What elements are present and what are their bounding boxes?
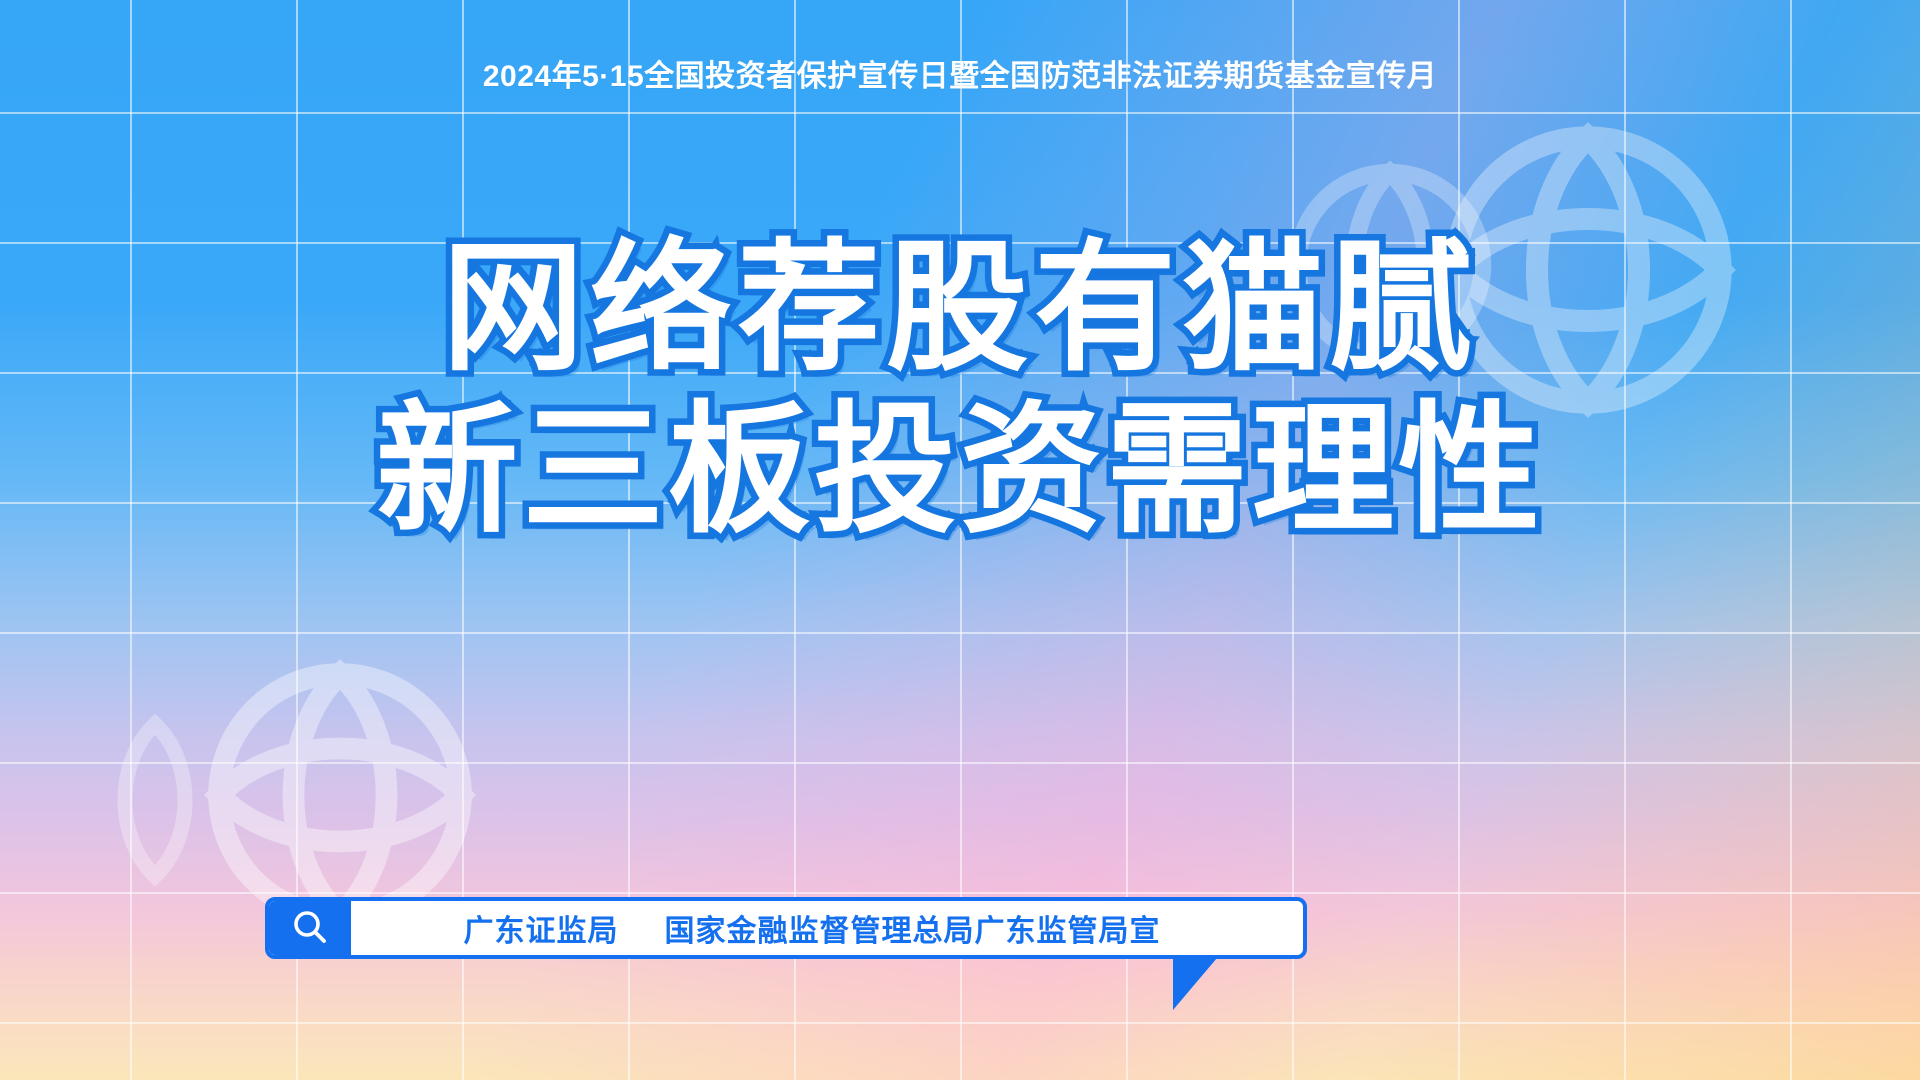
main-title-line-1: 网络荐股有猫腻 bbox=[0, 225, 1920, 393]
petal-flower-ornament-bottom-left-secondary bbox=[55, 700, 255, 900]
issuer-secondary: 国家金融监督管理总局广东监管局宣 bbox=[665, 915, 1161, 948]
poster-canvas: 2024年5·15全国投资者保护宣传日暨全国防范非法证券期货基金宣传月 网络荐股… bbox=[0, 0, 1920, 1080]
issuer-footer-inner: 广东证监局国家金融监督管理总局广东监管局宣 bbox=[265, 897, 1307, 959]
main-title: 网络荐股有猫腻 新三板投资需理性 bbox=[0, 225, 1920, 554]
main-title-line-2: 新三板投资需理性 bbox=[0, 387, 1920, 555]
campaign-header: 2024年5·15全国投资者保护宣传日暨全国防范非法证券期货基金宣传月 bbox=[0, 58, 1920, 96]
speech-bubble-tail bbox=[1173, 958, 1217, 1010]
issuer-primary: 广东证监局 bbox=[464, 915, 619, 948]
issuer-text-container: 广东证监局国家金融监督管理总局广东监管局宣 bbox=[351, 901, 1303, 955]
issuer-footer-bar: 广东证监局国家金融监督管理总局广东监管局宣 bbox=[265, 897, 1307, 959]
campaign-header-text: 2024年5·15全国投资者保护宣传日暨全国防范非法证券期货基金宣传月 bbox=[483, 58, 1437, 96]
issuer-line: 广东证监局国家金融监督管理总局广东监管局宣 bbox=[464, 906, 1161, 950]
search-icon bbox=[269, 901, 351, 955]
